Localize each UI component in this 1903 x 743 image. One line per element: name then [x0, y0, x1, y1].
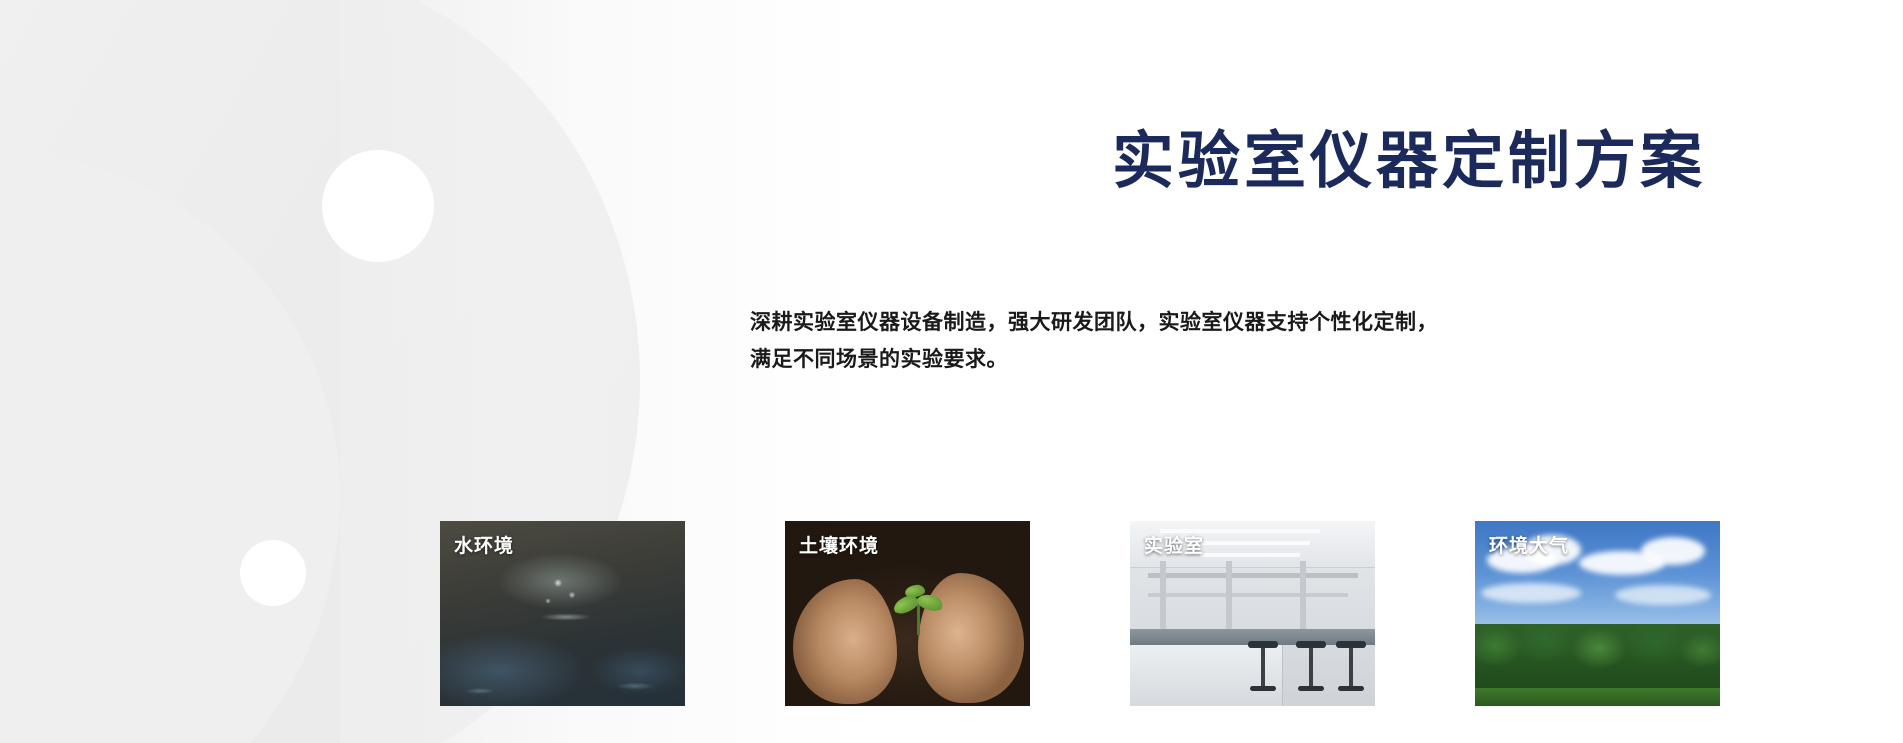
sprout-icon [889, 583, 949, 641]
category-card-label: 实验室 [1144, 531, 1204, 558]
category-card-list: 水环境 土壤环境 [440, 521, 1720, 706]
banner-content: 实验室仪器定制方案 深耕实验室仪器设备制造，强大研发团队，实验室仪器支持个性化定… [0, 0, 1903, 743]
banner-description-line-1: 深耕实验室仪器设备制造，强大研发团队，实验室仪器支持个性化定制， [750, 305, 1710, 342]
category-card-water[interactable]: 水环境 [440, 521, 685, 706]
category-card-soil[interactable]: 土壤环境 [785, 521, 1030, 706]
banner-description: 深耕实验室仪器设备制造，强大研发团队，实验室仪器支持个性化定制， 满足不同场景的… [750, 305, 1710, 379]
category-card-label: 土壤环境 [799, 531, 879, 558]
promo-banner: 实验室仪器定制方案 深耕实验室仪器设备制造，强大研发团队，实验室仪器支持个性化定… [0, 0, 1903, 743]
category-card-label: 水环境 [454, 531, 514, 558]
banner-description-line-2: 满足不同场景的实验要求。 [750, 342, 1710, 379]
category-card-atmosphere[interactable]: 环境大气 [1475, 521, 1720, 706]
category-card-label: 环境大气 [1489, 531, 1569, 558]
category-card-laboratory[interactable]: 实验室 [1130, 521, 1375, 706]
page-title: 实验室仪器定制方案 [746, 128, 1706, 196]
